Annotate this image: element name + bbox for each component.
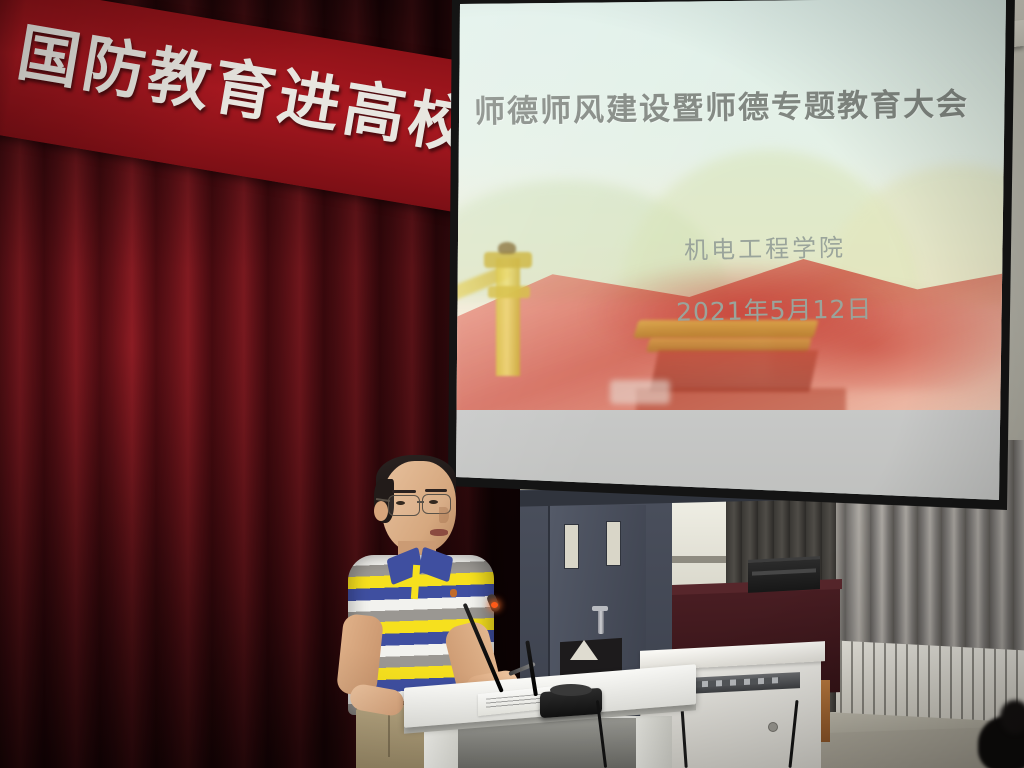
door-window-pane-right	[606, 521, 621, 566]
speaker-nose	[439, 507, 449, 523]
tiananmen-foreground-white	[610, 380, 670, 404]
speaker-mouth	[430, 529, 448, 536]
microphone-base-top	[550, 684, 592, 696]
folded-paper	[570, 640, 598, 660]
slide-date: 2021年5月12日	[676, 287, 997, 329]
podium-leg-right	[636, 716, 672, 768]
microphone-status-led-icon	[491, 602, 498, 608]
speaker-ear	[374, 501, 388, 521]
speaker-eye-right	[429, 500, 438, 504]
slide-title: 师德师风建设暨师德专题教育大会	[474, 78, 1015, 131]
projection-screen: 师德师风建设暨师德专题教育大会 机电工程学院 2021年5月12日	[440, 0, 1015, 520]
speaker-eye-left	[396, 501, 405, 505]
door-handle[interactable]	[598, 606, 604, 634]
glasses-bridge	[417, 501, 424, 503]
radiator-fins	[820, 640, 1024, 723]
projection-screen-surface: 师德师风建设暨师德专题教育大会 机电工程学院 2021年5月12日	[440, 0, 1015, 520]
door-window-pane-left	[564, 524, 579, 569]
huabiao-lower-cap	[488, 286, 530, 298]
tiananmen-body	[650, 350, 819, 392]
huabiao-column-icon	[496, 258, 520, 376]
huabiao-cap	[484, 252, 532, 268]
huabiao-beast-icon	[498, 242, 516, 254]
audience-head-silhouette-2	[1000, 700, 1024, 734]
speaker-brow-left	[392, 490, 416, 493]
shirt-logo-icon	[450, 589, 457, 597]
trousers-pocket-seam	[388, 713, 390, 757]
speaker-brow-right	[425, 489, 447, 492]
slide-organization: 机电工程学院	[684, 225, 985, 265]
cabinet-lock-icon[interactable]	[768, 722, 778, 732]
black-equipment-case	[748, 556, 820, 593]
slide-canvas	[440, 0, 1015, 420]
glasses-lens-left	[388, 495, 420, 516]
photo-scene: 国防教育进高校	[0, 0, 1024, 768]
